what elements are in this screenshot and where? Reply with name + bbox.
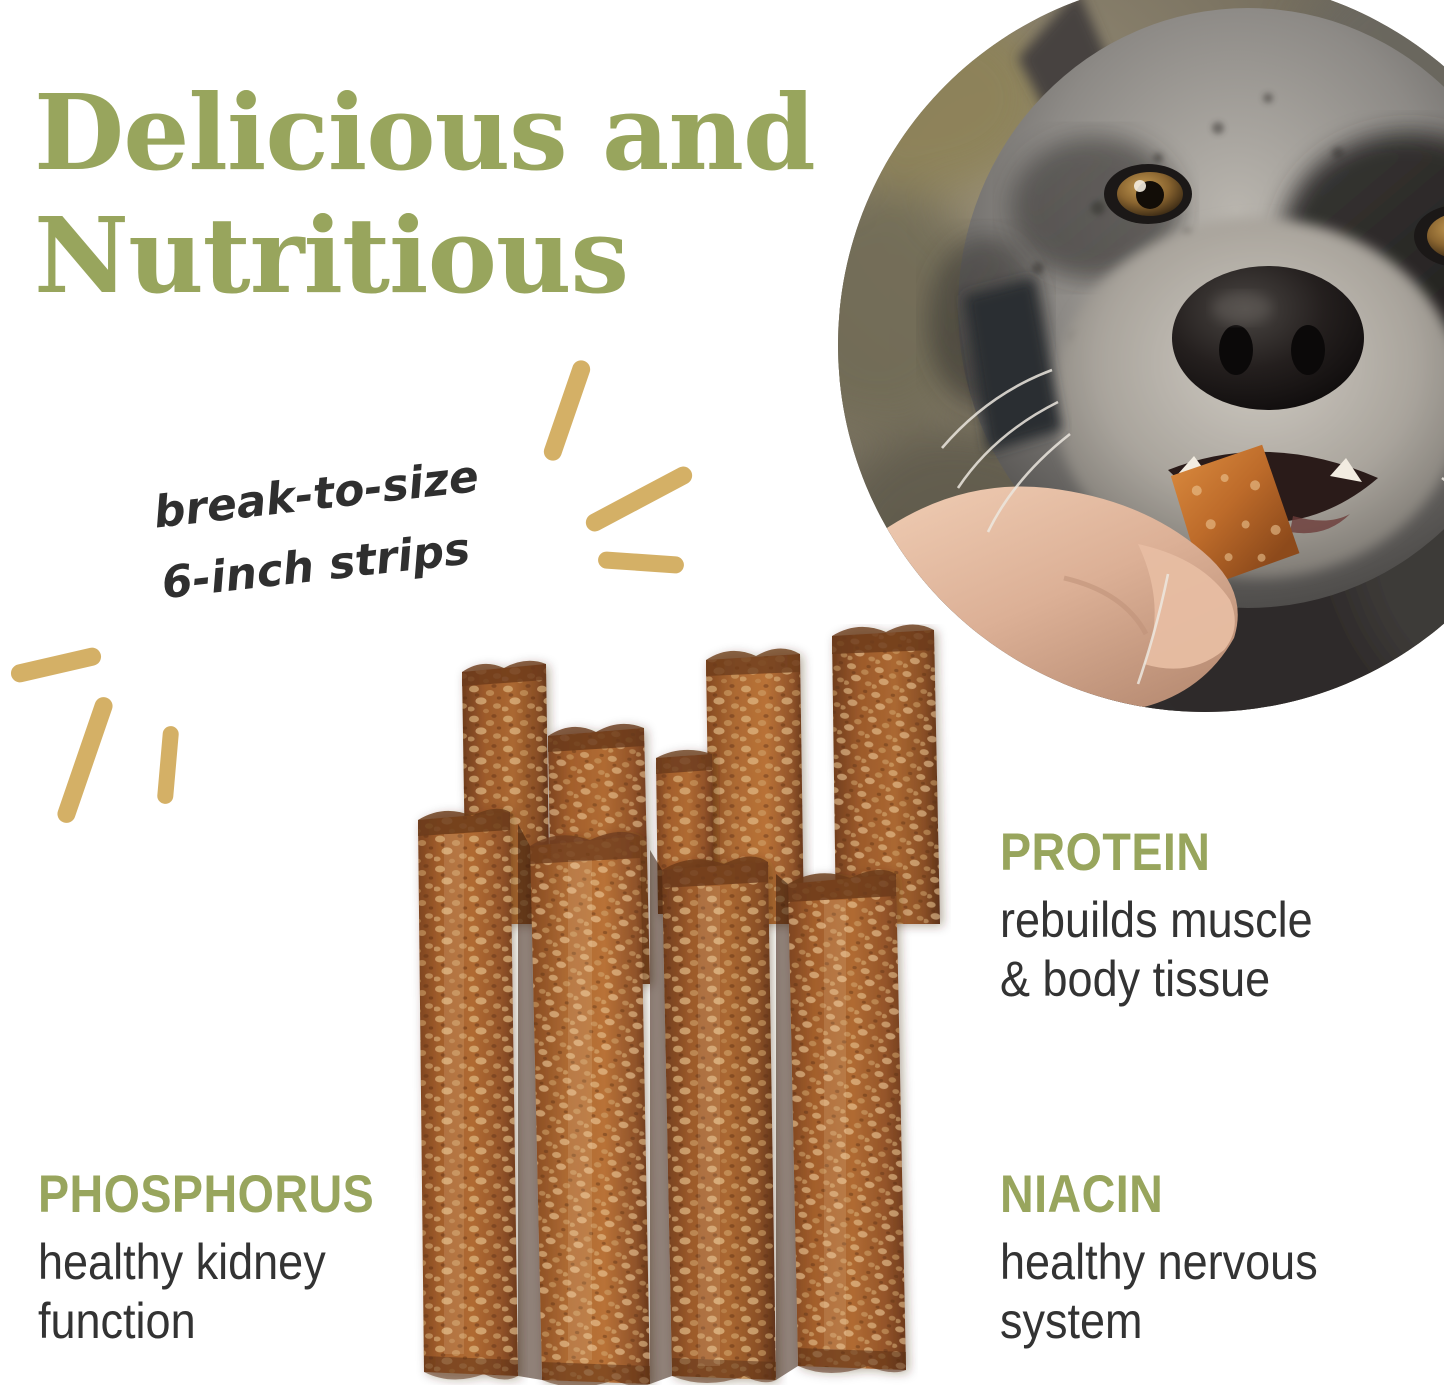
nutrient-callout-niacin: NIACIN healthy nervous system	[1000, 1168, 1430, 1351]
nutrient-title-niacin: NIACIN	[1000, 1168, 1378, 1221]
nutrient-title-phosphorus: PHOSPHORUS	[38, 1168, 416, 1221]
nutrient-callout-phosphorus: PHOSPHORUS healthy kidney function	[38, 1168, 468, 1351]
infographic-page: Delicious and Nutritious break-to-size 6…	[0, 0, 1444, 1385]
nutrient-title-protein: PROTEIN	[1000, 826, 1378, 879]
treat-strips-photo	[400, 624, 986, 1385]
sparkle-stroke-2	[55, 695, 115, 826]
treat-strips-illustration	[400, 624, 986, 1385]
nutrient-description-phosphorus: healthy kidney function	[38, 1233, 425, 1351]
gold-sparkle-left	[8, 632, 198, 822]
nutrient-description-protein: rebuilds muscle & body tissue	[1000, 891, 1387, 1009]
dog-photo-circle	[838, 0, 1444, 712]
sparkle-stroke-1	[9, 646, 103, 684]
nutrient-description-niacin: healthy nervous system	[1000, 1233, 1387, 1351]
sparkle-stroke-3	[157, 725, 180, 804]
break-to-size-note: break-to-size 6-inch strips	[150, 433, 564, 620]
dog-photo-illustration	[838, 0, 1444, 712]
page-title: Delicious and Nutritious	[34, 72, 824, 317]
nutrient-callout-protein: PROTEIN rebuilds muscle & body tissue	[1000, 826, 1430, 1009]
sparkle-stroke-2	[583, 463, 696, 534]
sparkle-stroke-3	[598, 551, 685, 574]
